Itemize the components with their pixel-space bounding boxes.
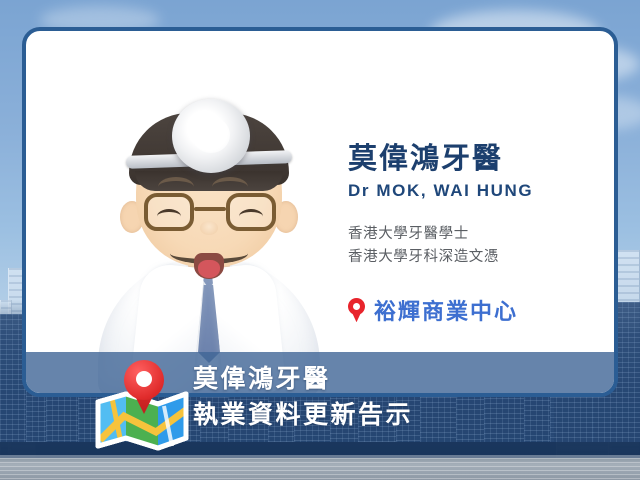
clinic-location-name: 裕輝商業中心 [374,294,518,326]
cartoon-dentist-avatar [84,61,334,391]
qualification-item: 香港大學牙醫學士 [348,223,598,245]
doctor-name-english: Dr MOK, WAI HUNG [348,181,598,201]
folded-map-with-pin-icon [88,358,196,458]
clinic-location-row: 裕輝商業中心 [348,294,598,326]
map-location-pin-icon [124,360,164,416]
mouth [194,253,224,279]
qualification-item: 香港大學牙科深造文憑 [348,246,598,268]
qualifications-list: 香港大學牙醫學士 香港大學牙科深造文憑 [348,223,598,268]
tongue [198,260,220,278]
harbour-water [0,458,640,480]
notice-line-1: 莫偉鴻牙醫 [193,362,413,398]
notice-line-2: 執業資料更新告示 [193,398,413,434]
location-pin-icon [348,298,365,322]
poster-canvas: 莫偉鴻牙醫 Dr MOK, WAI HUNG 香港大學牙醫學士 香港大學牙科深造… [0,0,640,480]
profile-card: 莫偉鴻牙醫 Dr MOK, WAI HUNG 香港大學牙醫學士 香港大學牙科深造… [22,27,618,397]
doctor-info-block: 莫偉鴻牙醫 Dr MOK, WAI HUNG 香港大學牙醫學士 香港大學牙科深造… [348,141,598,326]
doctor-name-chinese: 莫偉鴻牙醫 [348,141,598,177]
nose [200,221,218,235]
notice-banner-text: 莫偉鴻牙醫 執業資料更新告示 [193,362,413,433]
head-mirror-center [192,117,230,153]
glasses-bridge [194,207,226,211]
eye-left [157,209,181,224]
eye-right [239,209,263,224]
